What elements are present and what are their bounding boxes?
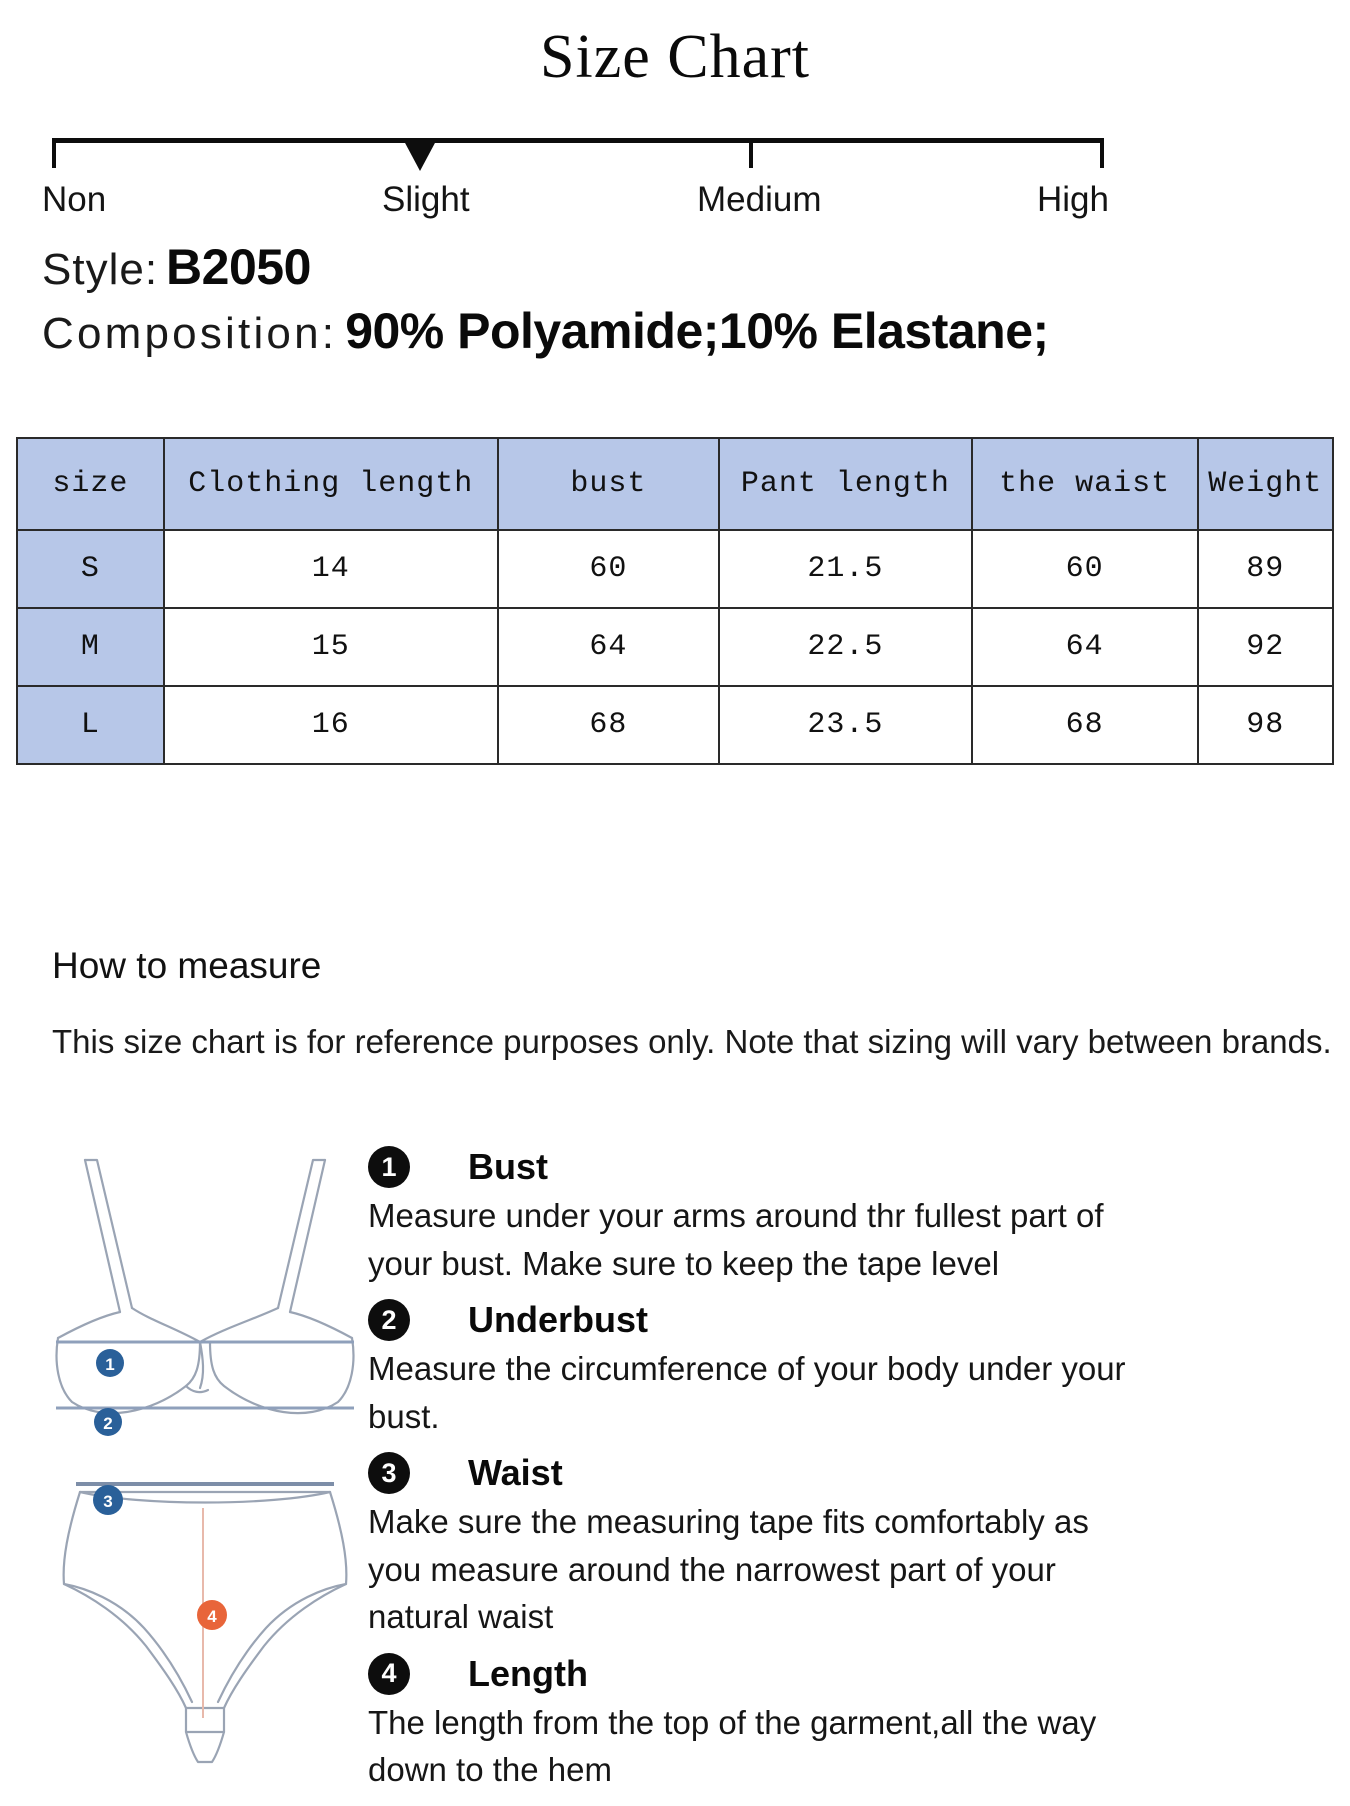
bra-illustration: 1 2 <box>40 1130 370 1460</box>
panty-marker-4-label: 4 <box>207 1607 217 1626</box>
step-1-number-icon: 1 <box>368 1146 410 1188</box>
header-weight: Weight <box>1198 438 1333 530</box>
step-2-header: 2 Underbust <box>368 1299 1333 1341</box>
step-4-number-icon: 4 <box>368 1653 410 1695</box>
bra-marker-2-label: 2 <box>103 1414 112 1433</box>
cell-waist: 64 <box>972 608 1198 686</box>
cell-pant-length: 21.5 <box>719 530 972 608</box>
table-row: L 16 68 23.5 68 98 <box>17 686 1333 764</box>
how-to-measure-heading: How to measure <box>52 945 321 987</box>
cell-weight: 92 <box>1198 608 1333 686</box>
cell-clothing-length: 16 <box>164 686 498 764</box>
step-1-title: Bust <box>468 1146 548 1188</box>
measure-steps: 1 Bust Measure under your arms around th… <box>368 1140 1333 1806</box>
cell-size: S <box>17 530 164 608</box>
scale-label-slight: Slight <box>382 180 470 220</box>
cell-weight: 98 <box>1198 686 1333 764</box>
product-meta: Style: B2050 Composition: 90% Polyamide;… <box>42 238 1332 366</box>
cell-pant-length: 22.5 <box>719 608 972 686</box>
panty-illustration: 3 4 <box>40 1450 370 1800</box>
style-value: B2050 <box>166 238 311 296</box>
step-2-body: Measure the circumference of your body u… <box>368 1345 1128 1440</box>
cell-weight: 89 <box>1198 530 1333 608</box>
step-4-title: Length <box>468 1653 588 1695</box>
composition-row: Composition: 90% Polyamide;10% Elastane; <box>42 302 1332 360</box>
header-clothing-length: Clothing length <box>164 438 498 530</box>
step-3-title: Waist <box>468 1452 563 1494</box>
cell-clothing-length: 15 <box>164 608 498 686</box>
cell-bust: 60 <box>498 530 719 608</box>
style-row: Style: B2050 <box>42 238 1332 296</box>
cell-waist: 68 <box>972 686 1198 764</box>
step-4-header: 4 Length <box>368 1653 1333 1695</box>
step-1-header: 1 Bust <box>368 1146 1333 1188</box>
scale-tick-high <box>1100 142 1104 168</box>
how-to-measure-note: This size chart is for reference purpose… <box>52 1023 1332 1061</box>
page-title: Size Chart <box>0 22 1350 93</box>
cell-size: L <box>17 686 164 764</box>
scale-label-medium: Medium <box>697 180 821 220</box>
cell-waist: 60 <box>972 530 1198 608</box>
cell-size: M <box>17 608 164 686</box>
cell-bust: 64 <box>498 608 719 686</box>
header-bust: bust <box>498 438 719 530</box>
cell-clothing-length: 14 <box>164 530 498 608</box>
scale-bar <box>52 138 1104 143</box>
cell-bust: 68 <box>498 686 719 764</box>
header-the-waist: the waist <box>972 438 1198 530</box>
cell-pant-length: 23.5 <box>719 686 972 764</box>
step-3-number-icon: 3 <box>368 1452 410 1494</box>
scale-tick-non <box>52 142 56 168</box>
table-row: S 14 60 21.5 60 89 <box>17 530 1333 608</box>
header-size: size <box>17 438 164 530</box>
scale-marker-selected-icon <box>404 141 436 171</box>
panty-marker-3-label: 3 <box>103 1492 112 1511</box>
composition-value: 90% Polyamide;10% Elastane; <box>345 302 1049 360</box>
step-2-number-icon: 2 <box>368 1299 410 1341</box>
padding-scale: Non Slight Medium High <box>52 138 1104 216</box>
table-header-row: size Clothing length bust Pant length th… <box>17 438 1333 530</box>
composition-label: Composition: <box>42 309 337 359</box>
step-1-body: Measure under your arms around thr fulle… <box>368 1192 1128 1287</box>
header-pant-length: Pant length <box>719 438 972 530</box>
style-label: Style: <box>42 245 158 295</box>
step-4-body: The length from the top of the garment,a… <box>368 1699 1128 1794</box>
scale-label-non: Non <box>42 180 106 220</box>
step-3-body: Make sure the measuring tape fits comfor… <box>368 1498 1128 1641</box>
size-table: size Clothing length bust Pant length th… <box>16 437 1334 765</box>
step-2-title: Underbust <box>468 1299 648 1341</box>
step-3-header: 3 Waist <box>368 1452 1333 1494</box>
scale-tick-medium <box>749 142 753 168</box>
scale-label-high: High <box>1037 180 1109 220</box>
table-row: M 15 64 22.5 64 92 <box>17 608 1333 686</box>
bra-marker-1-label: 1 <box>105 1355 114 1374</box>
